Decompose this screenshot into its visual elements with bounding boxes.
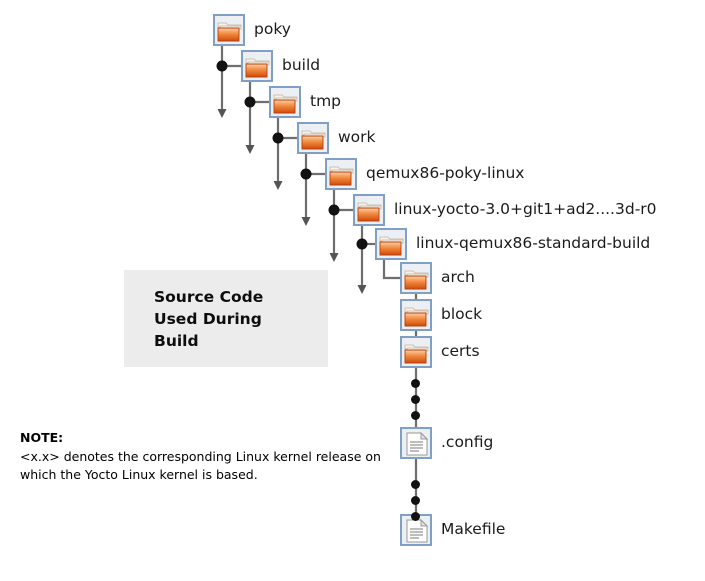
ellipsis-upper xyxy=(411,379,421,420)
junction-dot xyxy=(329,205,340,216)
ellipsis-dot xyxy=(411,512,420,521)
tree-node-linux-yocto[interactable]: linux-yocto-3.0+git1+ad2....3d-r0 xyxy=(353,194,657,226)
ellipsis-lower xyxy=(411,480,421,521)
diagram-canvas: poky build tmp xyxy=(0,0,705,581)
tree-node-tmp[interactable]: tmp xyxy=(269,86,341,118)
tree-node-work[interactable]: work xyxy=(297,122,376,154)
tree-node-label: qemux86-poky-linux xyxy=(366,166,524,182)
tree-node-arch[interactable]: arch xyxy=(400,262,475,294)
ellipsis-dot xyxy=(411,411,420,420)
tree-node-certs[interactable]: certs xyxy=(400,336,480,368)
folder-icon xyxy=(297,122,329,154)
folder-icon xyxy=(213,14,245,46)
folder-icon xyxy=(400,262,432,294)
note-title: NOTE: xyxy=(20,430,390,447)
tree-node-label: work xyxy=(338,130,376,146)
tree-node-label: poky xyxy=(254,22,291,38)
tree-node-poky[interactable]: poky xyxy=(213,14,291,46)
folder-icon xyxy=(400,299,432,331)
tree-node-block[interactable]: block xyxy=(400,299,482,331)
junction-dot xyxy=(357,239,368,250)
tree-node-label: .config xyxy=(441,435,493,451)
junction-dot xyxy=(217,61,228,72)
tree-node-label: linux-qemux86-standard-build xyxy=(416,236,650,252)
source-code-callout-text: Source Code Used During Build xyxy=(154,286,263,352)
folder-icon xyxy=(325,158,357,190)
ellipsis-dot xyxy=(411,496,420,505)
junction-dot xyxy=(301,169,312,180)
tree-node-config[interactable]: .config xyxy=(400,427,493,459)
tree-node-label: linux-yocto-3.0+git1+ad2....3d-r0 xyxy=(394,202,657,218)
tree-node-label: arch xyxy=(441,270,475,286)
ellipsis-dot xyxy=(411,480,420,489)
tree-node-linux-qemux86-standard-build[interactable]: linux-qemux86-standard-build xyxy=(375,228,650,260)
note-body: <x.x> denotes the corresponding Linux ke… xyxy=(20,448,390,484)
tree-node-label: block xyxy=(441,307,482,323)
folder-icon xyxy=(269,86,301,118)
junction-dot xyxy=(245,97,256,108)
document-icon xyxy=(400,427,432,459)
source-code-callout: Source Code Used During Build xyxy=(124,270,328,367)
tree-node-build[interactable]: build xyxy=(241,50,320,82)
tree-node-label: certs xyxy=(441,344,480,360)
ellipsis-dot xyxy=(411,379,420,388)
tree-node-label: build xyxy=(282,58,320,74)
folder-icon xyxy=(353,194,385,226)
tree-node-label: Makefile xyxy=(441,522,505,538)
ellipsis-dot xyxy=(411,395,420,404)
folder-icon xyxy=(375,228,407,260)
folder-icon xyxy=(400,336,432,368)
junction-dot xyxy=(273,133,284,144)
tree-node-qemux86-poky-linux[interactable]: qemux86-poky-linux xyxy=(325,158,524,190)
note-block: NOTE: <x.x> denotes the corresponding Li… xyxy=(20,430,390,483)
tree-node-label: tmp xyxy=(310,94,341,110)
connector-layer xyxy=(0,0,705,581)
folder-icon xyxy=(241,50,273,82)
junction-dot-layer xyxy=(0,0,705,581)
